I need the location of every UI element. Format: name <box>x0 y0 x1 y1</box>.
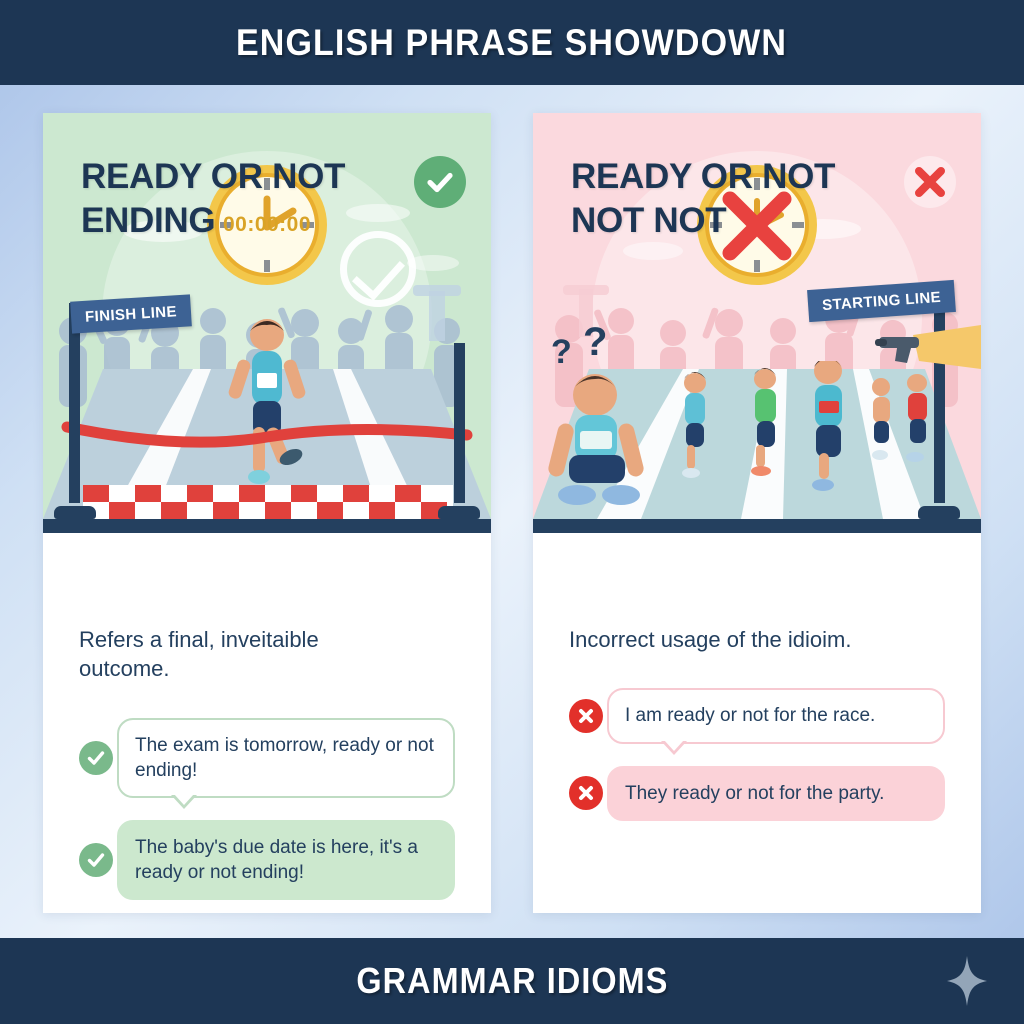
clock-timer-label: 00:00:00 <box>223 213 311 237</box>
card-incorrect-usage[interactable]: READY OR NOT NOT NOT <box>533 113 981 913</box>
footer-title: GRAMMAR IDIOMS <box>356 960 668 1002</box>
finish-pole-right-base <box>438 506 480 519</box>
hero-illustration-starting-line: READY OR NOT NOT NOT <box>533 113 981 533</box>
ground-bar <box>43 519 491 533</box>
start-pole-right-base <box>918 506 960 519</box>
cross-glyph <box>575 705 597 727</box>
check-circle-icon <box>414 156 466 208</box>
page-title: ENGLISH PHRASE SHOWDOWN <box>236 22 787 64</box>
svg-text:?: ? <box>551 333 572 371</box>
runner-figure <box>221 315 313 511</box>
check-glyph <box>85 747 107 769</box>
check-circle-icon <box>79 741 113 775</box>
starting-line-banner-label: STARTING LINE <box>821 288 941 313</box>
cross-icon <box>714 183 800 269</box>
sparkle-icon <box>946 955 988 1007</box>
finish-tape <box>43 417 491 459</box>
card-description-incorrect: Incorrect usage of the idioim. <box>569 625 899 654</box>
ground-bar <box>533 519 981 533</box>
svg-text:?: ? <box>583 327 607 364</box>
finish-line-banner-label: FINISH LINE <box>85 303 178 326</box>
check-glyph <box>85 849 107 871</box>
cross-circle-icon <box>569 699 603 733</box>
example-bubble: The exam is tomorrow, ready or not endin… <box>117 718 455 798</box>
hero-illustration-finish-line: READY OR NOT ENDING 00:00:00 <box>43 113 491 533</box>
page-header: ENGLISH PHRASE SHOWDOWN <box>0 0 1024 85</box>
card-body-correct: Refers a final, inveitaible outcome. The… <box>43 533 491 922</box>
finish-pole-right <box>454 343 465 503</box>
card-description-correct: Refers a final, inveitaible outcome. <box>79 625 409 684</box>
card-correct-usage[interactable]: READY OR NOT ENDING 00:00:00 <box>43 113 491 913</box>
starter-pistol-icon <box>861 313 981 383</box>
cross-circle-icon <box>569 776 603 810</box>
example-bubble: I am ready or not for the race. <box>607 688 945 743</box>
example-row[interactable]: I am ready or not for the race. <box>569 688 945 743</box>
cross-glyph <box>575 782 597 804</box>
example-row[interactable]: The baby's due date is here, it's a read… <box>79 820 455 900</box>
cross-circle-icon <box>904 156 956 208</box>
finish-pole-left-base <box>54 506 96 519</box>
page-footer: GRAMMAR IDIOMS <box>0 938 1024 1024</box>
check-circle-icon <box>79 843 113 877</box>
example-row[interactable]: The exam is tomorrow, ready or not endin… <box>79 718 455 798</box>
example-row[interactable]: They ready or not for the party. <box>569 766 945 821</box>
card-body-incorrect: Incorrect usage of the idioim. I am read… <box>533 533 981 913</box>
background-runners <box>653 361 953 511</box>
cross-glyph <box>908 160 952 204</box>
comparison-cards-container: READY OR NOT ENDING 00:00:00 <box>43 113 981 913</box>
checkered-finish-strip <box>43 485 491 519</box>
check-glyph <box>423 165 457 199</box>
example-bubble: The baby's due date is here, it's a read… <box>117 820 455 900</box>
example-bubble: They ready or not for the party. <box>607 766 945 821</box>
crouching-runner-figure: ? ? <box>539 327 671 517</box>
